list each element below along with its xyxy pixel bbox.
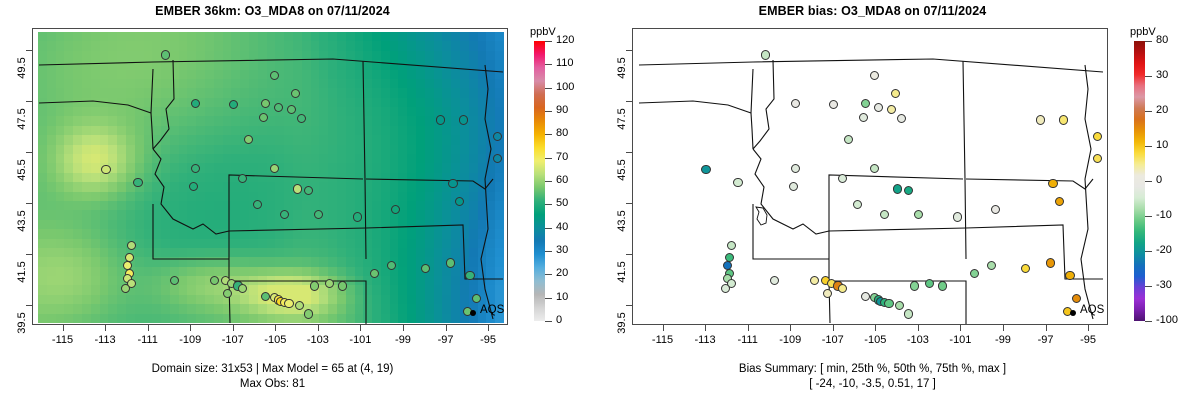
bias-x-tick [918, 325, 919, 331]
model-obs-marker[interactable] [244, 135, 253, 144]
panel-model: EMBER 36km: O3_MDA8 on 07/11/2024 [0, 0, 600, 409]
model-colorbar-label: 90 [556, 104, 568, 116]
model-obs-marker[interactable] [261, 292, 270, 301]
model-y-tick-label: 43.5 [16, 201, 28, 241]
bias-caption-line1: Bias Summary: [ min, 25th %, 50th %, 75t… [600, 363, 1145, 375]
model-x-tick [63, 325, 64, 331]
model-obs-marker[interactable] [338, 281, 347, 290]
model-obs-marker[interactable] [295, 301, 304, 310]
model-obs-marker[interactable] [448, 179, 457, 188]
bias-x-tick [705, 325, 706, 331]
model-y-tick-label: 47.5 [16, 99, 28, 139]
aqs-legend-dot [1070, 310, 1076, 316]
model-obs-marker[interactable] [387, 261, 396, 270]
model-y-tick-label: 45.5 [16, 150, 28, 190]
bias-obs-marker[interactable] [1065, 271, 1074, 280]
bias-obs-marker[interactable] [721, 284, 730, 293]
model-obs-marker[interactable] [253, 200, 262, 209]
model-x-tick [190, 325, 191, 331]
bias-colorbar-tick [1145, 111, 1152, 112]
bias-obs-marker[interactable] [791, 99, 800, 108]
model-obs-marker[interactable] [310, 281, 319, 290]
bias-x-tick [1046, 325, 1047, 331]
model-obs-marker[interactable] [238, 284, 247, 293]
model-obs-marker[interactable] [353, 212, 362, 221]
bias-y-tick-label: 49.5 [616, 48, 628, 88]
model-colorbar-label: 40 [556, 221, 568, 233]
bias-y-tick-label: 47.5 [616, 99, 628, 139]
model-x-tick [488, 325, 489, 331]
bias-x-tick-label: -101 [940, 334, 980, 346]
model-x-tick-label: -113 [85, 334, 125, 346]
model-x-tick-label: -99 [383, 334, 423, 346]
model-x-tick-label: -109 [170, 334, 210, 346]
bias-obs-marker[interactable] [891, 89, 900, 98]
bias-colorbar-label: 0 [1156, 174, 1162, 186]
bias-x-tick-label: -97 [1026, 334, 1066, 346]
model-x-tick-label: -107 [213, 334, 253, 346]
bias-obs-marker[interactable] [904, 186, 913, 195]
bias-caption-line2: [ -24, -10, -3.5, 0.51, 17 ] [600, 378, 1145, 390]
bias-colorbar-label: -10 [1156, 209, 1172, 221]
bias-obs-marker[interactable] [844, 135, 853, 144]
bias-y-tick-label: 45.5 [616, 150, 628, 190]
bias-obs-marker[interactable] [893, 184, 902, 193]
model-obs-marker[interactable] [270, 71, 279, 80]
bias-x-tick-label: -113 [685, 334, 725, 346]
panel-bias: EMBER bias: O3_MDA8 on 07/11/2024 [600, 0, 1200, 409]
bias-x-tick [663, 325, 664, 331]
model-obs-marker[interactable] [421, 264, 430, 273]
model-caption-line2: Max Obs: 81 [0, 378, 545, 390]
model-colorbar-tick [545, 158, 552, 159]
model-obs-marker[interactable] [191, 99, 200, 108]
bias-obs-marker[interactable] [838, 284, 847, 293]
bias-obs-marker[interactable] [733, 178, 742, 187]
model-obs-marker[interactable] [121, 284, 130, 293]
bias-colorbar-label: 20 [1156, 104, 1168, 116]
model-x-tick [360, 325, 361, 331]
model-x-tick-label: -105 [255, 334, 295, 346]
bias-y-tick-label: 43.5 [616, 201, 628, 241]
bias-obs-marker[interactable] [701, 165, 710, 174]
bias-obs-marker[interactable] [970, 269, 979, 278]
model-colorbar-label: 60 [556, 174, 568, 186]
model-colorbar-tick [545, 204, 552, 205]
bias-obs-marker[interactable] [925, 279, 934, 288]
model-x-tick [233, 325, 234, 331]
model-y-tick-label: 39.5 [16, 303, 28, 343]
model-obs-marker[interactable] [189, 182, 198, 191]
model-colorbar-label: 50 [556, 197, 568, 209]
model-x-tick-label: -115 [43, 334, 83, 346]
model-colorbar-label: 100 [556, 81, 574, 93]
bias-obs-marker[interactable] [991, 205, 1000, 214]
bias-x-tick [1088, 325, 1089, 331]
panel-model-plot-frame [32, 28, 508, 325]
model-colorbar-label: 20 [556, 267, 568, 279]
panel-model-title: EMBER 36km: O3_MDA8 on 07/11/2024 [0, 4, 545, 18]
aqs-legend-label: AQS [1080, 304, 1104, 316]
model-colorbar-tick [545, 111, 552, 112]
model-colorbar-strip[interactable] [534, 41, 545, 321]
bias-colorbar-label: 30 [1156, 69, 1168, 81]
bias-x-tick-label: -99 [983, 334, 1023, 346]
model-x-tick-label: -111 [128, 334, 168, 346]
bias-x-tick [790, 325, 791, 331]
model-x-tick [148, 325, 149, 331]
model-obs-marker[interactable] [291, 89, 300, 98]
bias-obs-marker[interactable] [727, 241, 736, 250]
model-colorbar-tick [545, 64, 552, 65]
model-obs-marker[interactable] [391, 205, 400, 214]
model-x-tick-label: -95 [468, 334, 508, 346]
bias-obs-marker[interactable] [761, 50, 770, 59]
model-obs-marker[interactable] [270, 164, 279, 173]
model-colorbar-tick [545, 181, 552, 182]
model-x-tick [105, 325, 106, 331]
bias-obs-marker[interactable] [874, 103, 883, 112]
model-colorbar-tick [545, 228, 552, 229]
bias-y-tick-label: 39.5 [616, 303, 628, 343]
bias-x-tick [875, 325, 876, 331]
bias-x-tick-label: -109 [770, 334, 810, 346]
panel-bias-title: EMBER bias: O3_MDA8 on 07/11/2024 [600, 4, 1145, 18]
model-colorbar-tick [545, 134, 552, 135]
model-x-tick-label: -101 [340, 334, 380, 346]
bias-colorbar-tick [1145, 146, 1152, 147]
bias-obs-marker[interactable] [1036, 115, 1045, 124]
bias-obs-marker[interactable] [853, 200, 862, 209]
bias-colorbar-tick [1145, 251, 1152, 252]
bias-x-tick-label: -105 [855, 334, 895, 346]
bias-colorbar-tick [1145, 286, 1152, 287]
bias-colorbar-tick [1145, 41, 1152, 42]
model-x-tick-label: -103 [298, 334, 338, 346]
bias-x-tick-label: -107 [813, 334, 853, 346]
model-colorbar-label: 10 [556, 291, 568, 303]
bias-obs-marker[interactable] [861, 292, 870, 301]
bias-colorbar-strip[interactable] [1134, 41, 1145, 321]
bias-x-tick-label: -103 [898, 334, 938, 346]
bias-obs-marker[interactable] [938, 281, 947, 290]
model-obs-marker[interactable] [127, 241, 136, 250]
model-obs-marker[interactable] [293, 184, 302, 193]
panel-bias-plot-frame [632, 28, 1108, 325]
bias-colorbar-label: -30 [1156, 279, 1172, 291]
model-obs-marker[interactable] [370, 269, 379, 278]
bias-colorbar-tick [1145, 181, 1152, 182]
model-y-tick-label: 49.5 [16, 48, 28, 88]
aqs-legend-label: AQS [480, 304, 504, 316]
model-colorbar-tick [545, 251, 552, 252]
model-obs-marker[interactable] [325, 279, 334, 288]
model-obs-marker[interactable] [446, 258, 455, 267]
model-colorbar-tick [545, 298, 552, 299]
bias-colorbar-label: -100 [1156, 314, 1178, 326]
bias-colorbar-tick [1145, 76, 1152, 77]
bias-x-tick [833, 325, 834, 331]
bias-obs-marker[interactable] [789, 182, 798, 191]
model-colorbar-unit: ppbV [530, 26, 556, 38]
bias-colorbar-unit: ppbV [1130, 26, 1156, 38]
bias-colorbar-label: -20 [1156, 244, 1172, 256]
bias-obs-marker[interactable] [1059, 115, 1068, 124]
model-obs-marker[interactable] [274, 103, 283, 112]
model-colorbar-tick [545, 41, 552, 42]
model-caption-line1: Domain size: 31x53 | Max Model = 65 at (… [0, 363, 545, 375]
model-x-tick [403, 325, 404, 331]
model-obs-marker[interactable] [304, 186, 313, 195]
bias-obs-marker[interactable] [870, 164, 879, 173]
model-obs-marker[interactable] [436, 115, 445, 124]
model-colorbar-label: 80 [556, 127, 568, 139]
bias-x-tick [748, 325, 749, 331]
model-obs-marker[interactable] [459, 115, 468, 124]
bias-obs-marker[interactable] [870, 71, 879, 80]
bias-obs-marker[interactable] [904, 309, 913, 318]
figure-root: EMBER 36km: O3_MDA8 on 07/11/2024 [0, 0, 1200, 409]
bias-obs-marker[interactable] [1046, 258, 1055, 267]
aqs-legend-dot [470, 310, 476, 316]
bias-obs-marker[interactable] [895, 301, 904, 310]
bias-x-tick [960, 325, 961, 331]
model-colorbar-label: 110 [556, 57, 574, 69]
bias-x-tick-label: -115 [643, 334, 683, 346]
model-obs-marker[interactable] [304, 309, 313, 318]
model-obs-marker[interactable] [465, 271, 474, 280]
model-colorbar-tick [545, 274, 552, 275]
bias-obs-marker[interactable] [910, 281, 919, 290]
model-y-tick-label: 41.5 [16, 252, 28, 292]
model-colorbar-tick [545, 88, 552, 89]
model-x-tick [318, 325, 319, 331]
model-colorbar-label: 30 [556, 244, 568, 256]
model-colorbar-label: 70 [556, 151, 568, 163]
model-obs-marker[interactable] [161, 50, 170, 59]
model-colorbar-label: 0 [556, 314, 562, 326]
model-colorbar-tick [545, 321, 552, 322]
model-colorbar-label: 120 [556, 34, 574, 46]
bias-colorbar-label: 80 [1156, 34, 1168, 46]
model-obs-marker[interactable] [101, 165, 110, 174]
bias-colorbar-label: 10 [1156, 139, 1168, 151]
bias-obs-marker[interactable] [953, 212, 962, 221]
model-x-tick [446, 325, 447, 331]
bias-obs-marker[interactable] [1048, 179, 1057, 188]
bias-colorbar-tick [1145, 321, 1152, 322]
model-obs-marker[interactable] [133, 178, 142, 187]
bias-x-tick-label: -95 [1068, 334, 1108, 346]
model-x-tick-label: -97 [426, 334, 466, 346]
bias-colorbar-tick [1145, 216, 1152, 217]
bias-x-tick-label: -111 [728, 334, 768, 346]
bias-x-tick [1003, 325, 1004, 331]
bias-obs-marker[interactable] [1021, 264, 1030, 273]
model-x-tick [275, 325, 276, 331]
bias-y-tick-label: 41.5 [616, 252, 628, 292]
bias-obs-marker[interactable] [987, 261, 996, 270]
